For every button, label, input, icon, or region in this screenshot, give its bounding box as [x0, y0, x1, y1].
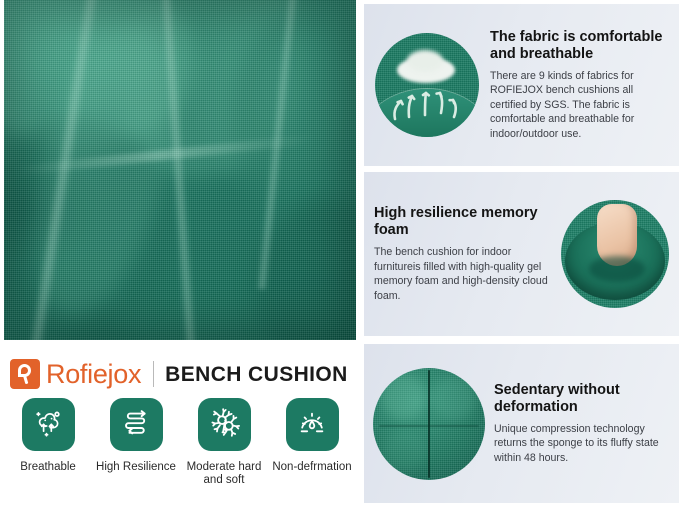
- cushion-dent: [589, 256, 645, 282]
- info-panel-foam: High resilience memory foam The bench cu…: [364, 172, 679, 336]
- fabric-breathability-illustration: [375, 33, 479, 137]
- panel-media: [364, 33, 490, 137]
- breathable-icon: [31, 405, 65, 444]
- panel-media: [364, 368, 494, 480]
- panel-body: The bench cushion for indoor furnitureis…: [374, 245, 551, 303]
- feature-item-breathable: Breathable: [4, 398, 92, 487]
- panel-text: The fabric is comfortable and breathable…: [490, 29, 679, 142]
- brand-row: Rofiejox BENCH CUSHION: [10, 356, 348, 392]
- panel-text: High resilience memory foam The bench cu…: [364, 205, 551, 303]
- feature-label: High Resilience: [93, 461, 179, 474]
- rofiejox-logo-icon: [10, 359, 40, 389]
- fabric-vignette: [4, 0, 356, 340]
- feature-tile: [198, 398, 251, 451]
- cushion-puff: [431, 376, 477, 420]
- info-panel-deformation: Sedentary without deformation Unique com…: [364, 344, 679, 503]
- panel-text: Sedentary without deformation Unique com…: [494, 382, 679, 466]
- left-column: Rofiejox BENCH CUSHION: [0, 0, 360, 507]
- product-name: BENCH CUSHION: [165, 364, 348, 385]
- info-panel-fabric: The fabric is comfortable and breathable…: [364, 4, 679, 166]
- feature-tile: [286, 398, 339, 451]
- right-column: The fabric is comfortable and breathable…: [364, 0, 679, 507]
- panel-media: [551, 200, 679, 308]
- feature-label: Breathable: [5, 461, 91, 474]
- feature-item-moderate-hard: Moderate hard and soft: [180, 398, 268, 487]
- moderate-hard-icon: [207, 405, 241, 444]
- feature-tile: [110, 398, 163, 451]
- panel-title: Sedentary without deformation: [494, 382, 669, 416]
- panel-title: High resilience memory foam: [374, 205, 551, 239]
- brand-divider: [153, 361, 154, 387]
- non-deformation-icon: [295, 405, 329, 444]
- cushion-puff: [381, 374, 427, 420]
- cushion-puff: [383, 430, 427, 472]
- cushion-seam: [428, 370, 430, 478]
- panel-body: Unique compression technology returns th…: [494, 422, 669, 466]
- feature-item-high-resilience: High Resilience: [92, 398, 180, 487]
- feature-strip: Breathable High Resilience: [4, 398, 356, 487]
- panel-title: The fabric is comfortable and breathable: [490, 29, 669, 63]
- feature-item-non-deformation: Non-defrmation: [268, 398, 356, 487]
- hand-pressing-cushion-photo: [561, 200, 669, 308]
- feature-label: Non-defrmation: [269, 461, 355, 474]
- tufted-cushion-photo: [373, 368, 485, 480]
- brand-name: Rofiejox: [46, 361, 141, 388]
- feature-label: Moderate hard and soft: [181, 461, 267, 487]
- feature-tile: [22, 398, 75, 451]
- panel-body: There are 9 kinds of fabrics for ROFIEJO…: [490, 69, 669, 142]
- hero-fabric-photo: [4, 0, 356, 340]
- high-resilience-icon: [119, 405, 153, 444]
